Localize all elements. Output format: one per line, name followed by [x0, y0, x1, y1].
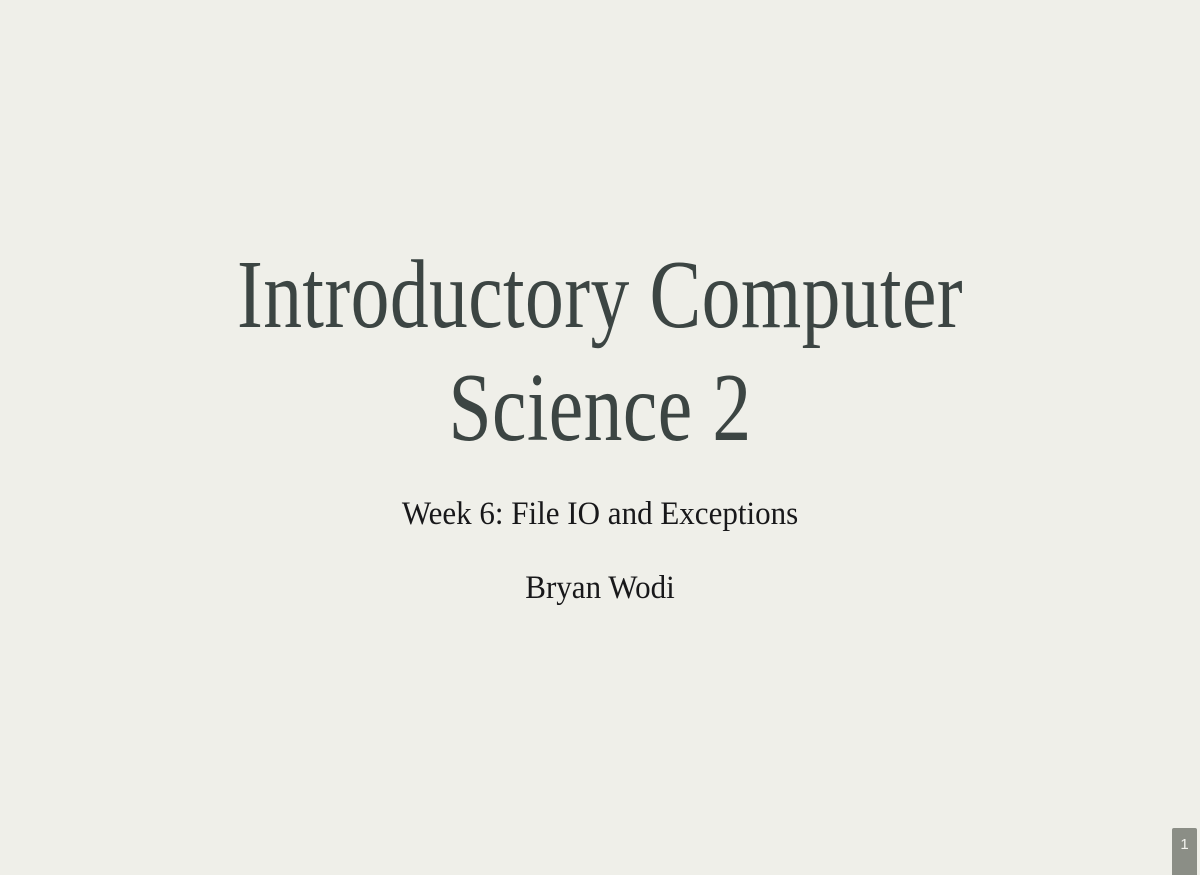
slide-title-block: Introductory ComputerScience 2: [0, 238, 1200, 464]
slide-subtitle: Week 6: File IO and Exceptions: [36, 494, 1164, 534]
title-line-1: Introductory Computer: [120, 238, 1080, 351]
slide-author-block: Bryan Wodi: [0, 568, 1200, 608]
slide-author: Bryan Wodi: [36, 568, 1164, 608]
slide-subtitle-block: Week 6: File IO and Exceptions: [0, 494, 1200, 534]
title-line-2: Science 2: [120, 351, 1080, 464]
page-number-badge: 1: [1172, 828, 1197, 875]
page-title: Introductory ComputerScience 2: [120, 238, 1080, 464]
presentation-slide: Introductory ComputerScience 2 Week 6: F…: [0, 0, 1200, 875]
